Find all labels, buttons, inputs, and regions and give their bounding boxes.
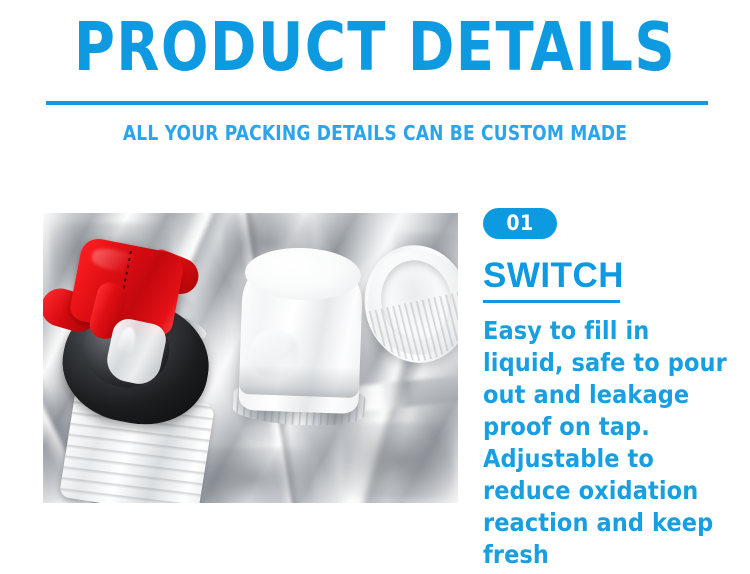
- white-cap-upright: [238, 248, 364, 414]
- red-tap-highlight: [90, 246, 139, 274]
- product-details-page: PRODUCT DETAILS ALL YOUR PACKING DETAILS…: [0, 0, 750, 574]
- foil-shadow: [193, 448, 313, 503]
- feature-title: SWITCH: [483, 256, 733, 296]
- spout-highlight: [115, 326, 138, 363]
- feature-info: 01 SWITCH Easy to fill in liquid, safe t…: [483, 208, 733, 571]
- cap-shading: [239, 364, 360, 398]
- feature-title-underline: [483, 300, 620, 303]
- content-area: 01 SWITCH Easy to fill in liquid, safe t…: [0, 0, 750, 574]
- product-photo: [43, 213, 458, 503]
- feature-number-badge: 01: [483, 208, 557, 239]
- foil-shadow: [343, 423, 453, 498]
- product-photo-canvas: [43, 213, 458, 503]
- feature-description: Easy to fill in liquid, safe to pour out…: [483, 315, 731, 571]
